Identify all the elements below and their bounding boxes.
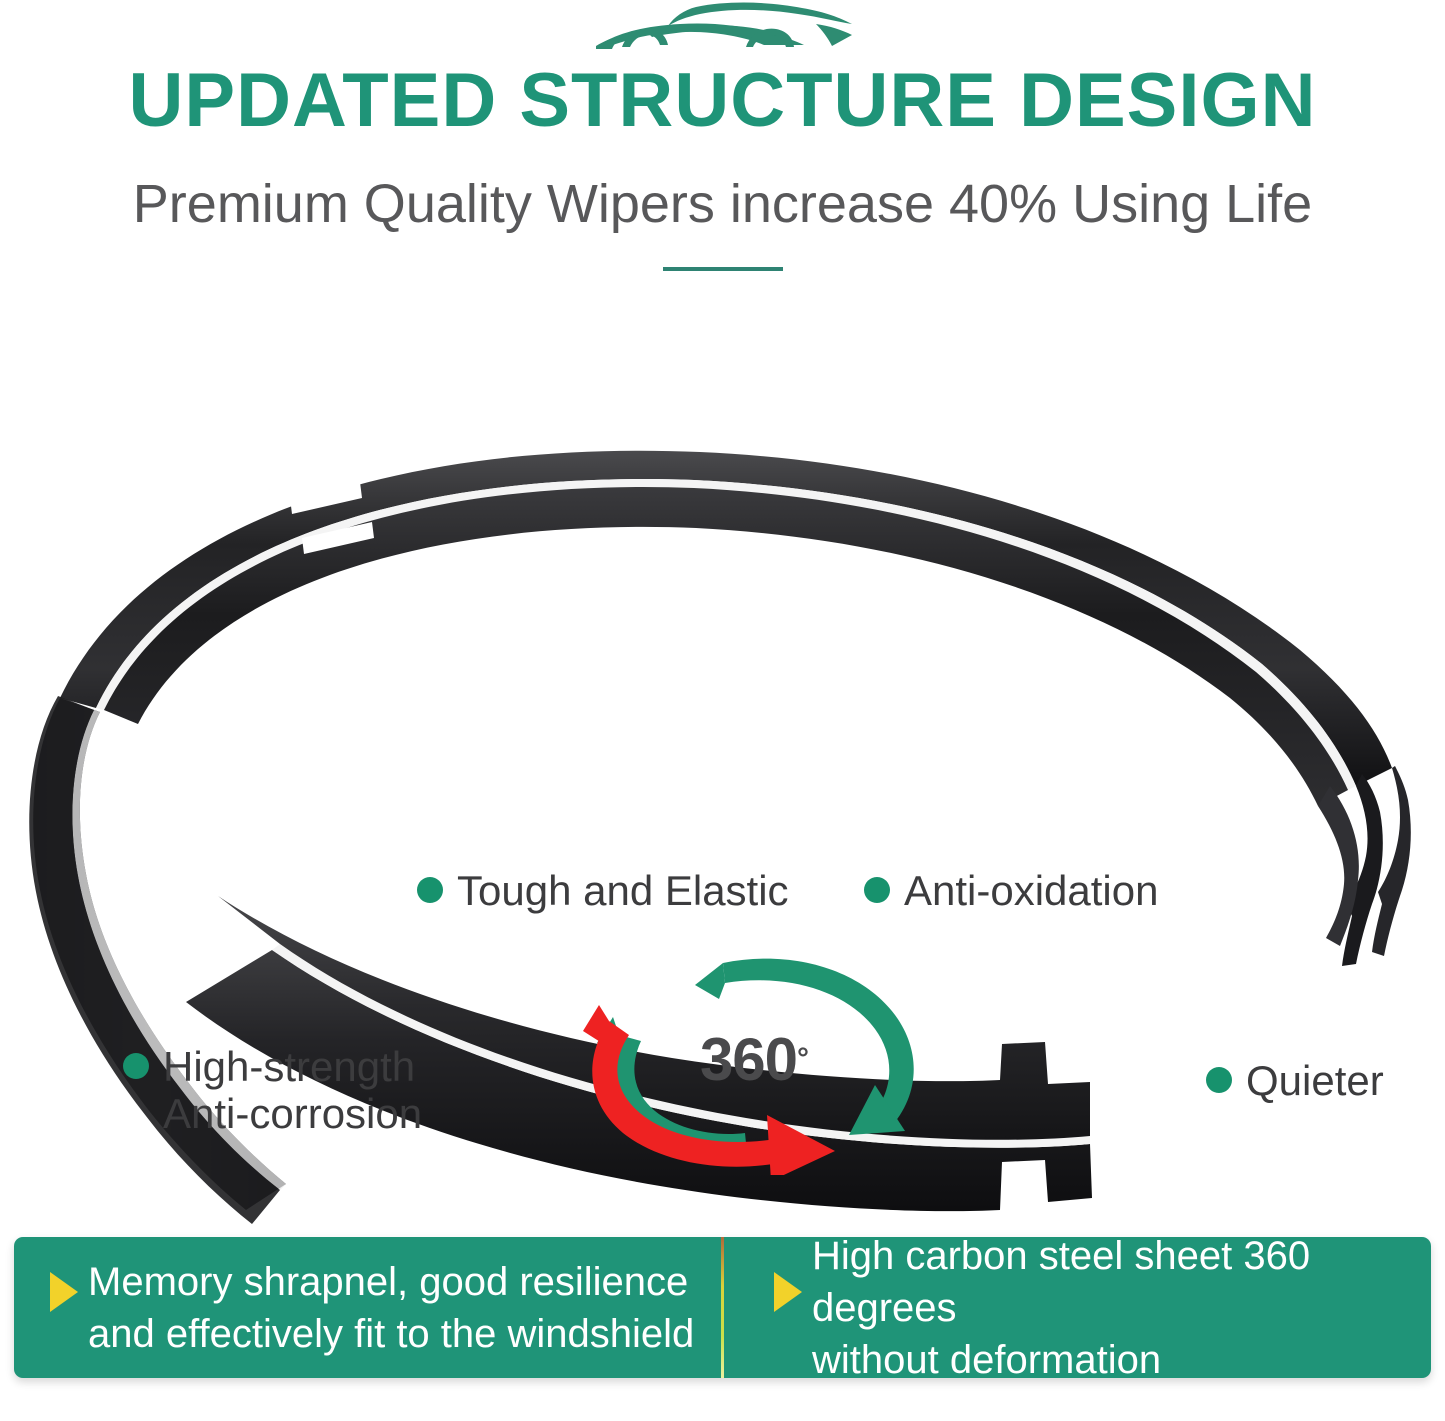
bottom-feature-banner: Memory shrapnel, good resilience and eff… <box>14 1237 1431 1378</box>
feature-label-line1: High-strength <box>163 1043 415 1090</box>
triangle-right-icon <box>50 1272 78 1312</box>
bullet-dot-icon <box>864 877 890 903</box>
header-section: UPDATED STRUCTURE DESIGN Premium Quality… <box>0 0 1445 300</box>
bullet-dot-icon <box>1206 1067 1232 1093</box>
page-subtitle: Premium Quality Wipers increase 40% Usin… <box>0 172 1445 236</box>
banner-text-line2: and effectively fit to the windshield <box>88 1312 694 1356</box>
title-divider <box>663 267 783 271</box>
bullet-dot-icon <box>417 877 443 903</box>
bullet-dot-icon <box>123 1053 149 1079</box>
banner-text: Memory shrapnel, good resilience and eff… <box>88 1256 694 1360</box>
rotation-arrows-icon: 360° <box>575 955 925 1175</box>
banner-text: High carbon steel sheet 360 degrees with… <box>812 1237 1409 1378</box>
feature-callout-quieter: Quieter <box>1206 1057 1384 1104</box>
banner-text-line1: High carbon steel sheet 360 degrees <box>812 1237 1310 1330</box>
feature-label: Tough and Elastic <box>457 867 789 914</box>
banner-panel-high-carbon-steel: High carbon steel sheet 360 degrees with… <box>724 1237 1431 1378</box>
page-title: UPDATED STRUCTURE DESIGN <box>0 58 1445 144</box>
banner-text-line1: Memory shrapnel, good resilience <box>88 1260 688 1304</box>
feature-callout-high-strength: High-strength Anti-corrosion <box>123 1043 422 1137</box>
product-image-section: 360° High-strength Anti-corrosion Tough … <box>0 300 1445 1225</box>
feature-callout-tough-and-elastic: Tough and Elastic <box>417 867 789 914</box>
triangle-right-icon <box>774 1272 802 1312</box>
banner-text-line2: without deformation <box>812 1338 1161 1379</box>
feature-callout-anti-oxidation: Anti-oxidation <box>864 867 1158 914</box>
feature-label: Anti-oxidation <box>904 867 1158 914</box>
banner-panel-memory-shrapnel: Memory shrapnel, good resilience and eff… <box>14 1237 721 1378</box>
feature-label: High-strength Anti-corrosion <box>163 1043 422 1137</box>
feature-label-line2: Anti-corrosion <box>163 1090 422 1137</box>
feature-label: Quieter <box>1246 1057 1384 1104</box>
car-silhouette-icon <box>588 2 858 58</box>
